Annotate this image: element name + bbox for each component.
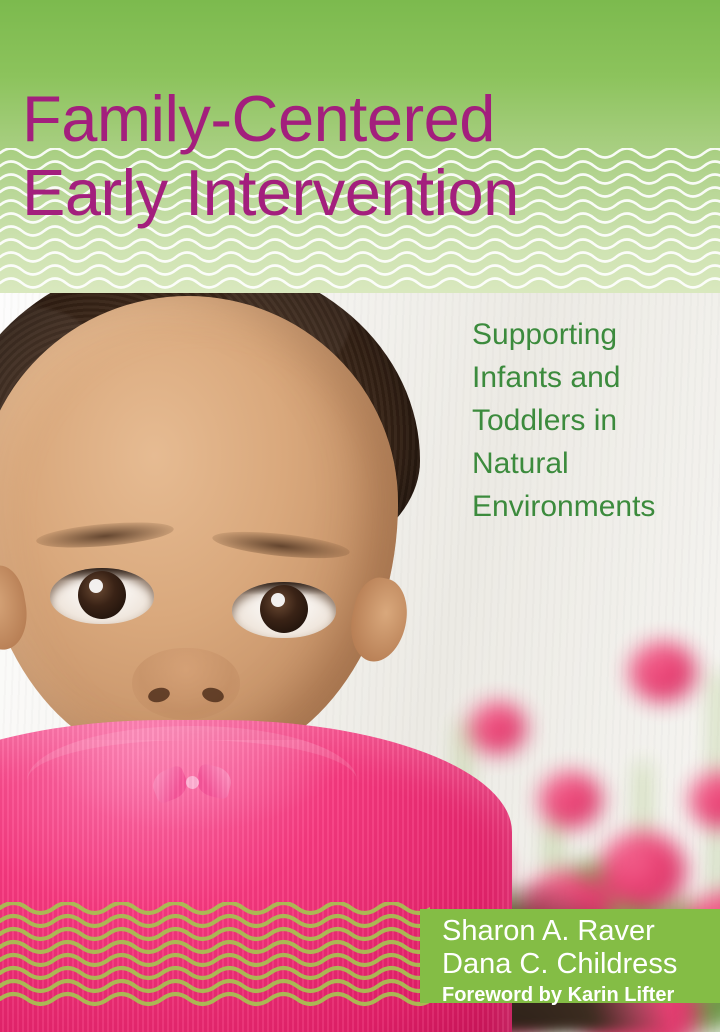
baby-face bbox=[0, 296, 398, 766]
author-name-secondary: Dana C. Childress bbox=[442, 948, 720, 981]
foreword-credit: Foreword by Karin Lifter bbox=[442, 982, 720, 1008]
iris-left bbox=[78, 571, 126, 619]
eyebrow-right bbox=[211, 527, 351, 563]
eye-left bbox=[50, 568, 154, 624]
eyebrow-left bbox=[35, 518, 174, 552]
ribbon-bow-icon bbox=[152, 761, 233, 806]
title-band: Family-Centered Early Intervention bbox=[0, 0, 720, 293]
shirt-wave-stripes bbox=[0, 902, 430, 1008]
book-cover: Family-Centered Early Intervention Suppo… bbox=[0, 0, 720, 1032]
cover-subtitle: Supporting Infants and Toddlers in Natur… bbox=[472, 313, 718, 528]
iris-right bbox=[260, 585, 308, 633]
nostril-left bbox=[147, 686, 172, 705]
shirt-collar bbox=[27, 726, 357, 836]
page-title: Family-Centered Early Intervention bbox=[22, 82, 712, 230]
nose bbox=[132, 648, 240, 720]
ear-right-icon bbox=[344, 573, 414, 666]
nostril-right bbox=[201, 686, 226, 705]
author-block: Sharon A. Raver Dana C. Childress Forewo… bbox=[420, 909, 720, 1003]
eye-right bbox=[232, 582, 336, 638]
ear-left-icon bbox=[0, 562, 33, 654]
author-name-primary: Sharon A. Raver bbox=[442, 915, 720, 948]
